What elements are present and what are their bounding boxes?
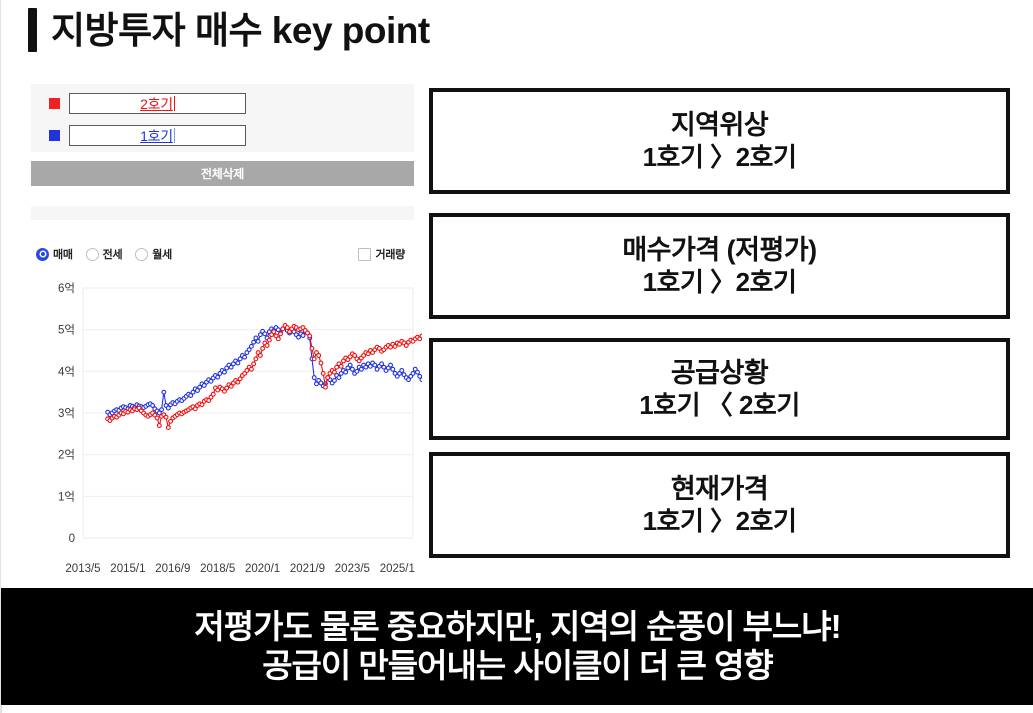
key-point-box-buy-price: 매수가격 (저평가) 1호기 〉2호기 (429, 213, 1010, 319)
page-title: 지방투자 매수 key point (28, 8, 430, 52)
panel-divider (31, 206, 414, 220)
svg-text:2억: 2억 (58, 449, 75, 462)
svg-text:2020/1: 2020/1 (245, 563, 280, 575)
volume-checkbox-item[interactable]: 거래량 (358, 246, 405, 262)
key-point-box-supply: 공급상황 1호기 〈 2호기 (429, 338, 1010, 440)
series-row-1: 2호기 (49, 93, 246, 114)
radio-option-maemae[interactable]: 매매 (36, 246, 73, 262)
radio-empty-icon (135, 248, 148, 261)
series-color-swatch-red (49, 98, 60, 109)
svg-text:2021/9: 2021/9 (290, 563, 325, 575)
key-point-title-2: 매수가격 (저평가) (622, 236, 816, 266)
key-point-box-region-status: 지역위상 1호기 〉2호기 (429, 88, 1010, 194)
key-point-title-3: 공급상황 (671, 359, 768, 389)
svg-text:2013/5: 2013/5 (65, 563, 100, 575)
svg-text:2016/9: 2016/9 (155, 563, 190, 575)
title-accent-bar (28, 8, 37, 52)
svg-text:2015/1: 2015/1 (110, 563, 145, 575)
key-point-comparison-4: 1호기 〉2호기 (643, 507, 797, 536)
series-color-swatch-blue (49, 130, 60, 141)
svg-text:3억: 3억 (58, 407, 75, 420)
radio-option-jeonse[interactable]: 전세 (86, 246, 123, 262)
chart-controls: 매매 전세 월세 거래량 (31, 246, 414, 266)
svg-text:6억: 6억 (58, 282, 75, 295)
series-legend-panel: 2호기 1호기 (31, 84, 414, 152)
radio-empty-icon (86, 248, 99, 261)
svg-text:1억: 1억 (58, 490, 75, 503)
page-title-text: 지방투자 매수 key point (51, 12, 430, 49)
clear-all-button[interactable]: 전체삭제 (31, 161, 414, 186)
slide-root: 지방투자 매수 key point 2호기 1호기 전체삭제 (0, 0, 1033, 713)
chart-app-panel: 2호기 1호기 전체삭제 매매 전세 (23, 84, 422, 581)
radio-label-maemae: 매매 (53, 246, 73, 262)
radio-label-wolse: 월세 (152, 246, 172, 262)
key-point-box-current-price: 현재가격 1호기 〉2호기 (429, 452, 1010, 558)
svg-text:5억: 5억 (58, 324, 75, 337)
key-point-comparison-3: 1호기 〈 2호기 (639, 391, 800, 420)
chart-canvas: 01억2억3억4억5억6억2013/52015/12016/92018/5202… (23, 280, 422, 581)
svg-text:0: 0 (69, 533, 75, 545)
svg-text:2023/5: 2023/5 (335, 563, 370, 575)
checkbox-unchecked-icon (358, 248, 371, 261)
price-line-chart: 01억2억3억4억5억6억2013/52015/12016/92018/5202… (23, 280, 422, 581)
series-name-input-1hogi[interactable]: 1호기 (69, 125, 246, 146)
radio-selected-icon (36, 248, 49, 261)
svg-text:4억: 4억 (58, 365, 75, 378)
text-caret-icon (174, 96, 175, 111)
key-point-title-4: 현재가격 (671, 475, 768, 505)
bottom-caption-bar: 저평가도 물론 중요하지만, 지역의 순풍이 부느냐! 공급이 만들어내는 사이… (1, 588, 1033, 705)
key-point-comparison-1: 1호기 〉2호기 (643, 143, 797, 172)
transaction-type-radio-group: 매매 전세 월세 (36, 246, 172, 262)
radio-label-jeonse: 전세 (103, 246, 123, 262)
svg-text:2025/1: 2025/1 (380, 563, 415, 575)
bottom-edge-strip (1, 705, 1033, 713)
svg-text:2018/5: 2018/5 (200, 563, 235, 575)
series-name-input-2hogi[interactable]: 2호기 (69, 93, 246, 114)
series-name-text-1: 2호기 (140, 97, 173, 111)
text-caret-icon (174, 128, 175, 143)
radio-option-wolse[interactable]: 월세 (135, 246, 172, 262)
checkbox-label-georaeryang: 거래량 (376, 246, 405, 262)
caption-line-1: 저평가도 물론 중요하지만, 지역의 순풍이 부느냐! (194, 608, 840, 646)
series-name-text-2: 1호기 (140, 129, 173, 143)
key-point-title-1: 지역위상 (671, 111, 768, 141)
caption-line-2: 공급이 만들어내는 사이클이 더 큰 영향 (262, 647, 773, 685)
series-row-2: 1호기 (49, 125, 246, 146)
key-point-comparison-2: 1호기 〉2호기 (643, 268, 797, 297)
